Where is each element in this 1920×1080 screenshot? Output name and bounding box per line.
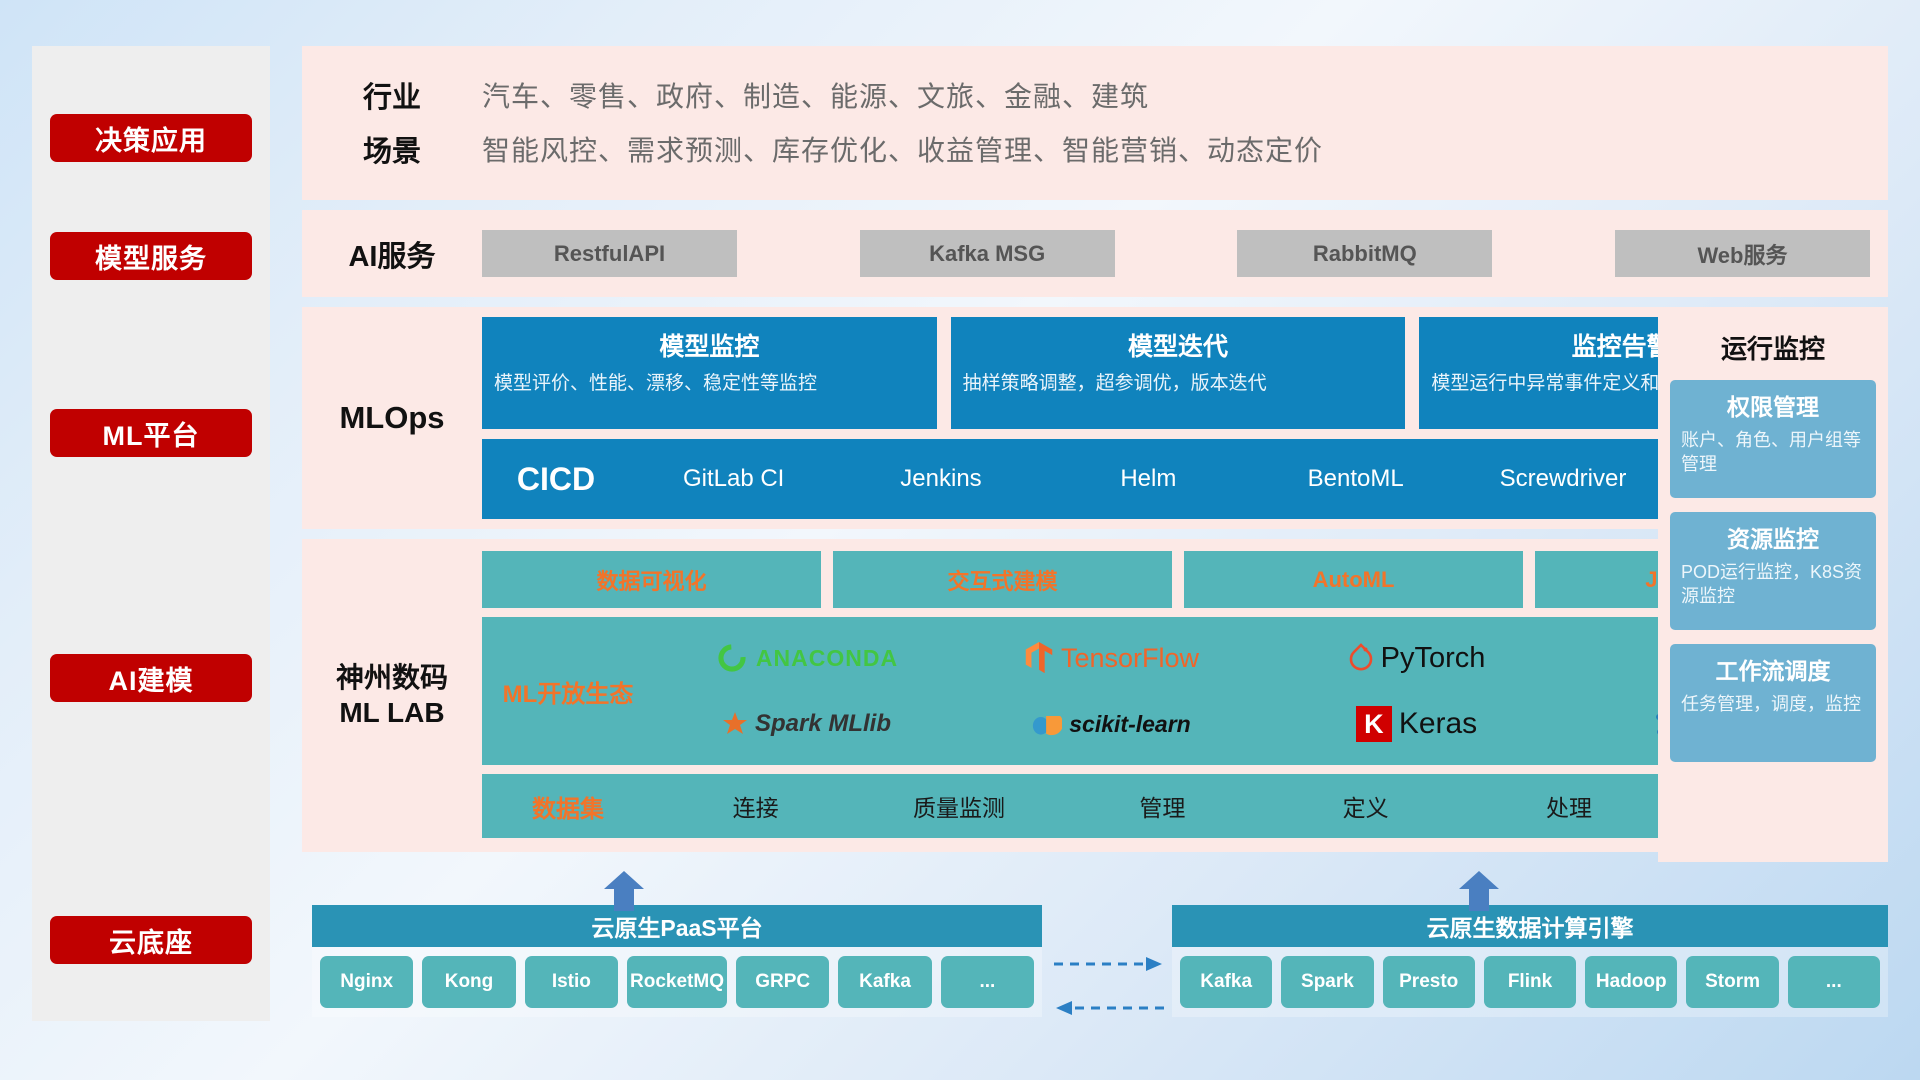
tool-tab-data-visualization[interactable]: 数据可视化: [482, 551, 821, 608]
data-chip-storm[interactable]: Storm: [1686, 956, 1778, 1008]
industry-label: 行业: [302, 74, 482, 116]
cloud-paas-group: 云原生PaaS平台 Nginx Kong Istio RocketMQ GRPC…: [312, 905, 1042, 1017]
cicd-item-gitlab-ci[interactable]: GitLab CI: [630, 465, 837, 493]
data-chip-more[interactable]: ...: [1788, 956, 1880, 1008]
dataset-item-connect[interactable]: 连接: [654, 789, 857, 823]
tool-tab-interactive-modeling[interactable]: 交互式建模: [833, 551, 1172, 608]
dataset-item-quality[interactable]: 质量监测: [857, 789, 1060, 823]
cloud-chip-grpc[interactable]: GRPC: [736, 956, 829, 1008]
monitoring-card-resource[interactable]: 资源监控 POD运行监控，K8S资源监控: [1670, 512, 1876, 630]
cloud-paas-title: 云原生PaaS平台: [312, 905, 1042, 947]
up-arrow-paas-icon: [602, 871, 646, 911]
cicd-item-jenkins[interactable]: Jenkins: [837, 465, 1044, 493]
ai-service-list: RestfulAPI Kafka MSG RabbitMQ Web服务: [482, 230, 1888, 277]
cloud-chip-more[interactable]: ...: [941, 956, 1034, 1008]
data-chip-spark[interactable]: Spark: [1281, 956, 1373, 1008]
cicd-item-helm[interactable]: Helm: [1045, 465, 1252, 493]
cloud-chip-kafka[interactable]: Kafka: [838, 956, 931, 1008]
scenario-row: 场景 智能风控、需求预测、库存优化、收益管理、智能营销、动态定价: [302, 122, 1888, 176]
cloud-data-engine-title: 云原生数据计算引擎: [1172, 905, 1888, 947]
data-chip-hadoop[interactable]: Hadoop: [1585, 956, 1677, 1008]
cloud-chip-rocketmq[interactable]: RocketMQ: [627, 956, 727, 1008]
pytorch-logo-text: PyTorch: [1381, 642, 1486, 675]
modeling-band: 神州数码 ML LAB 数据可视化 交互式建模 AutoML JupyterLa…: [302, 539, 1888, 852]
tensorflow-logo-text: TensorFlow: [1061, 643, 1199, 674]
ml-ecosystem-label: ML开放生态: [482, 674, 654, 709]
ai-service-label: AI服务: [302, 233, 482, 275]
cloud-data-engine-chip-list: Kafka Spark Presto Flink Hadoop Storm ..…: [1172, 947, 1888, 1017]
keras-logo-mark: K: [1356, 706, 1392, 742]
tensorflow-logo: TensorFlow: [959, 625, 1264, 691]
rail-item-model-service[interactable]: 模型服务: [50, 232, 252, 280]
monitoring-card-workflow[interactable]: 工作流调度 任务管理，调度，监控: [1670, 644, 1876, 762]
runtime-monitoring-title: 运行监控: [1670, 329, 1876, 366]
cicd-item-screwdriver[interactable]: Screwdriver: [1459, 465, 1666, 493]
rail-item-ai-modeling[interactable]: AI建模: [50, 654, 252, 702]
anaconda-logo-text: ANACONDA: [756, 645, 898, 672]
cloud-paas-chip-list: Nginx Kong Istio RocketMQ GRPC Kafka ...: [312, 947, 1042, 1017]
ai-service-chip-rabbitmq[interactable]: RabbitMQ: [1237, 230, 1492, 277]
data-chip-presto[interactable]: Presto: [1383, 956, 1475, 1008]
bidirectional-dashed-arrows: [1054, 950, 1164, 1022]
cloud-chip-nginx[interactable]: Nginx: [320, 956, 413, 1008]
spark-mllib-logo: Spark MLlib: [654, 691, 959, 757]
data-chip-flink[interactable]: Flink: [1484, 956, 1576, 1008]
monitoring-card-permission[interactable]: 权限管理 账户、角色、用户组等管理: [1670, 380, 1876, 498]
mlops-band: MLOps 模型监控 模型评价、性能、漂移、稳定性等监控 模型迭代 抽样策略调整…: [302, 307, 1888, 529]
mlops-card-model-monitoring[interactable]: 模型监控 模型评价、性能、漂移、稳定性等监控: [482, 317, 937, 429]
cloud-data-engine-group: 云原生数据计算引擎 Kafka Spark Presto Flink Hadoo…: [1172, 905, 1888, 1017]
scikit-learn-logo: scikit-learn: [959, 691, 1264, 757]
main-content: 行业 汽车、零售、政府、制造、能源、文旅、金融、建筑 场景 智能风控、需求预测、…: [302, 46, 1888, 862]
ai-service-chip-web[interactable]: Web服务: [1615, 230, 1870, 277]
anaconda-logo: ANACONDA: [654, 625, 959, 691]
cloud-chip-istio[interactable]: Istio: [525, 956, 618, 1008]
left-rail: 决策应用 模型服务 ML平台 AI建模 云底座: [32, 46, 270, 1021]
dataset-item-define[interactable]: 定义: [1264, 789, 1467, 823]
industry-values: 汽车、零售、政府、制造、能源、文旅、金融、建筑: [482, 75, 1149, 115]
dataset-item-manage[interactable]: 管理: [1061, 789, 1264, 823]
card-desc: 模型评价、性能、漂移、稳定性等监控: [494, 371, 925, 397]
tool-tab-automl[interactable]: AutoML: [1184, 551, 1523, 608]
cloud-foundation-section: 云原生PaaS平台 Nginx Kong Istio RocketMQ GRPC…: [302, 880, 1888, 1065]
card-title: 工作流调度: [1681, 652, 1865, 686]
scikit-learn-logo-text: scikit-learn: [1069, 711, 1190, 738]
ai-service-chip-kafka-msg[interactable]: Kafka MSG: [860, 230, 1115, 277]
industry-row: 行业 汽车、零售、政府、制造、能源、文旅、金融、建筑: [302, 68, 1888, 122]
cicd-label: CICD: [482, 461, 630, 498]
mlops-card-model-iteration[interactable]: 模型迭代 抽样策略调整，超参调优，版本迭代: [951, 317, 1406, 429]
card-title: 权限管理: [1681, 388, 1865, 422]
ml-lab-label-line1: 神州数码: [336, 662, 448, 693]
data-chip-kafka[interactable]: Kafka: [1180, 956, 1272, 1008]
ai-service-chip-restfulapi[interactable]: RestfulAPI: [482, 230, 737, 277]
rail-item-ml-platform[interactable]: ML平台: [50, 409, 252, 457]
card-desc: POD运行监控，K8S资源监控: [1681, 560, 1865, 609]
card-desc: 账户、角色、用户组等管理: [1681, 428, 1865, 477]
up-arrow-data-engine-icon: [1457, 871, 1501, 911]
pytorch-logo: PyTorch: [1264, 625, 1569, 691]
cicd-item-bentoml[interactable]: BentoML: [1252, 465, 1459, 493]
card-title: 资源监控: [1681, 520, 1865, 554]
cloud-chip-kong[interactable]: Kong: [422, 956, 515, 1008]
keras-logo-text: Keras: [1399, 707, 1477, 741]
card-desc: 抽样策略调整，超参调优，版本迭代: [963, 371, 1394, 397]
dataset-item-process[interactable]: 处理: [1467, 789, 1670, 823]
rail-item-cloud-base[interactable]: 云底座: [50, 916, 252, 964]
ml-lab-label: 神州数码 ML LAB: [302, 551, 482, 838]
card-desc: 任务管理，调度，监控: [1681, 692, 1865, 716]
runtime-monitoring-panel: 运行监控 权限管理 账户、角色、用户组等管理 资源监控 POD运行监控，K8S资…: [1658, 313, 1888, 862]
rail-item-decision-app[interactable]: 决策应用: [50, 114, 252, 162]
ai-service-band: AI服务 RestfulAPI Kafka MSG RabbitMQ Web服务: [302, 210, 1888, 297]
keras-logo: K Keras: [1264, 691, 1569, 757]
spark-mllib-logo-text: Spark MLlib: [755, 710, 891, 738]
card-title: 模型监控: [494, 327, 925, 363]
industry-scenario-band: 行业 汽车、零售、政府、制造、能源、文旅、金融、建筑 场景 智能风控、需求预测、…: [302, 46, 1888, 200]
scenario-values: 智能风控、需求预测、库存优化、收益管理、智能营销、动态定价: [482, 129, 1323, 169]
dataset-label: 数据集: [482, 789, 654, 824]
ml-lab-label-line2: ML LAB: [339, 697, 444, 728]
scenario-label: 场景: [302, 128, 482, 170]
mlops-label: MLOps: [302, 317, 482, 519]
card-title: 模型迭代: [963, 327, 1394, 363]
